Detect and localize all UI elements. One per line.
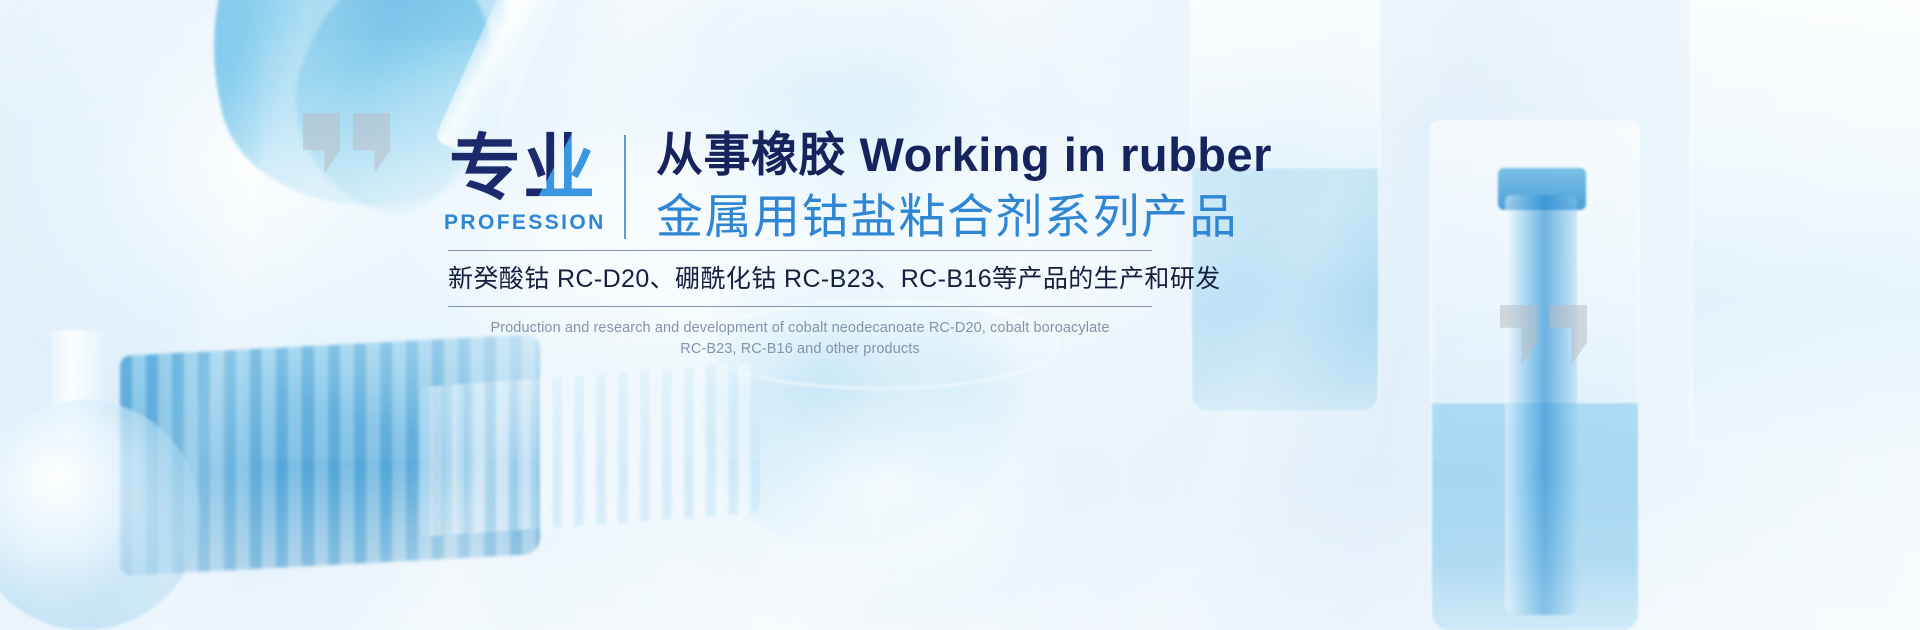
profession-logo-chinese: 专业: [444, 131, 602, 207]
banner-content: 专业 PROFESSION 从事橡胶 Working in rubber 金属用…: [0, 0, 1920, 630]
subline-text: 新癸酸钴 RC-D20、硼酰化钴 RC-B23、RC-B16等产品的生产和研发: [448, 264, 1152, 294]
subline-band: 新癸酸钴 RC-D20、硼酰化钴 RC-B23、RC-B16等产品的生产和研发: [448, 250, 1152, 307]
headline-line-two: 金属用钴盐粘合剂系列产品: [656, 189, 1272, 245]
headline-text-group: 从事橡胶 Working in rubber 金属用钴盐粘合剂系列产品: [656, 125, 1272, 245]
vertical-divider: [624, 135, 626, 239]
promo-banner: 专业 PROFESSION 从事橡胶 Working in rubber 金属用…: [0, 0, 1920, 630]
english-description: Production and research and development …: [448, 318, 1152, 360]
profession-logo-english: PROFESSION: [444, 211, 602, 235]
profession-logo: 专业 PROFESSION: [444, 125, 602, 235]
profession-logo-char-zhuan: 专: [449, 129, 523, 209]
english-description-line-one: Production and research and development …: [448, 318, 1152, 339]
english-description-line-two: RC-B23, RC-B16 and other products: [448, 339, 1152, 360]
headline-row: 专业 PROFESSION 从事橡胶 Working in rubber 金属用…: [444, 125, 1272, 245]
headline-line-one: 从事橡胶 Working in rubber: [656, 127, 1272, 183]
profession-logo-char-ye: 业: [523, 129, 597, 209]
